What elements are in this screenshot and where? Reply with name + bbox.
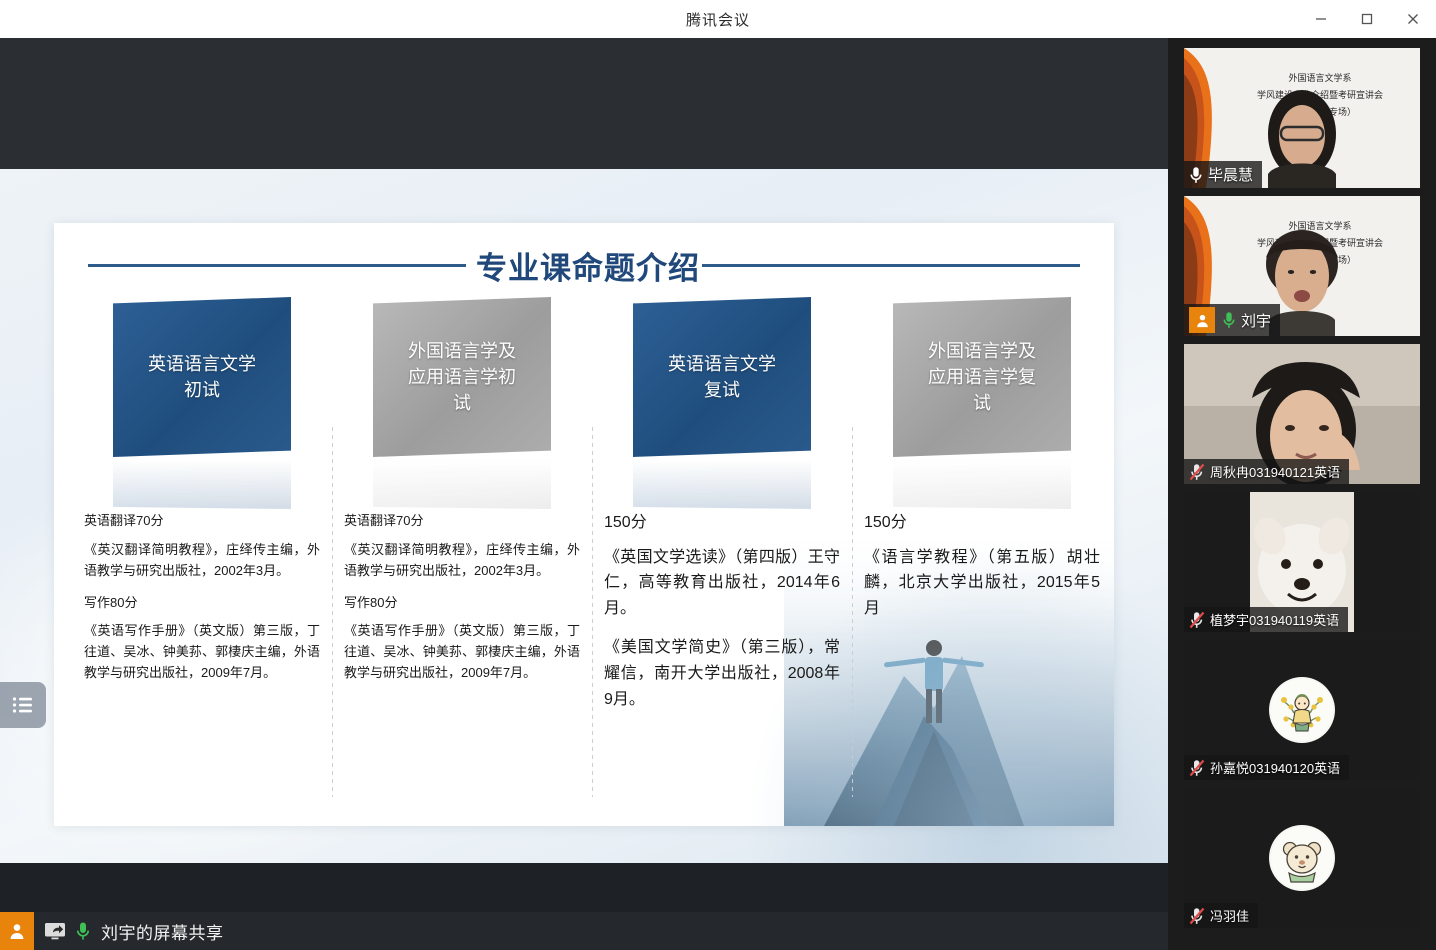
column-body: 150分 《英国文学选读》（第四版）王守仁，高等教育出版社，2014年6月。 《…	[604, 512, 840, 712]
screen-share-icon[interactable]	[44, 921, 66, 941]
illustration-flower-person-icon	[1271, 679, 1333, 741]
participant-name: 植梦宇031940119英语	[1210, 610, 1339, 629]
block-heading: 150分	[864, 512, 1100, 534]
mic-muted-icon	[1189, 463, 1205, 481]
stage-letterbox-top	[0, 38, 1168, 169]
banner-wrap: 英语语言文学 复试	[604, 297, 840, 512]
list-menu-icon	[12, 696, 34, 714]
slide-column: 外国语言学及 应用语言学复 试 150分 《语言学教程》（第五版）胡壮麟，北京大…	[852, 297, 1112, 817]
participant-name: 孙嘉悦031940120英语	[1210, 758, 1340, 777]
block-paragraph: 《英汉翻译简明教程》，庄绎传主编，外语教学与研究出版社，2002年3月。	[84, 539, 320, 581]
avatar	[1269, 677, 1335, 743]
block-heading: 英语翻译70分	[84, 512, 320, 530]
column-body: 150分 《语言学教程》（第五版）胡壮麟，北京大学出版社，2015年5月	[864, 512, 1100, 621]
banner-line: 应用语言学初	[408, 364, 516, 390]
column-body: 英语翻译70分 《英汉翻译简明教程》，庄绎传主编，外语教学与研究出版社，2002…	[344, 512, 580, 683]
slide-column: 外国语言学及 应用语言学初 试 英语翻译70分 《英汉翻译简明教程》，庄绎传主编…	[332, 297, 592, 817]
participant-name-chip: 孙嘉悦031940120英语	[1184, 755, 1349, 780]
participant-name: 刘宇	[1241, 310, 1271, 331]
participant-name: 冯羽佳	[1210, 906, 1249, 925]
avatar	[1269, 825, 1335, 891]
slide-column: 英语语言文学 复试 150分 《英国文学选读》（第四版）王守仁，高等教育出版社，…	[592, 297, 852, 817]
mic-on-icon[interactable]	[75, 921, 91, 941]
participant-name: 周秋冉031940121英语	[1210, 462, 1340, 481]
mic-on-icon	[1222, 311, 1236, 329]
title-rule-right	[702, 264, 1080, 267]
participant-tile[interactable]: 孙嘉悦031940120英语	[1184, 640, 1420, 780]
block-paragraph: 《美国文学简史》（第三版），常耀信，南开大学出版社，2008年9月。	[604, 635, 840, 712]
banner-reflection	[633, 457, 811, 509]
participant-name-chip: 毕晨慧	[1184, 161, 1262, 188]
block-paragraph: 《英语写作手册》（英文版）第三版，丁往道、吴冰、钟美荪、郭棲庆主编，外语教学与研…	[344, 620, 580, 683]
banner-line: 外国语言学及	[408, 338, 516, 364]
banner-wrap: 外国语言学及 应用语言学复 试	[864, 297, 1100, 512]
banner-line: 试	[453, 390, 471, 416]
participant-name-chip: 周秋冉031940121英语	[1184, 459, 1349, 484]
screen-share-status-bar: 刘宇的屏幕共享	[0, 912, 1168, 950]
person-silhouette	[884, 640, 984, 723]
block-paragraph: 《英汉翻译简明教程》，庄绎传主编，外语教学与研究出版社，2002年3月。	[344, 539, 580, 581]
title-rule-left	[88, 264, 466, 267]
participant-tile[interactable]: 外国语言文学系 学风建设专业介绍暨考研宣讲会 （长春校区专场）	[1184, 196, 1420, 336]
banner-reflection	[113, 457, 291, 509]
slide-column: 英语语言文学 初试 英语翻译70分 《英汉翻译简明教程》，庄绎传主编，外语教学与…	[72, 297, 332, 817]
window-title: 腾讯会议	[686, 9, 750, 30]
block-paragraph: 《英国文学选读》（第四版）王守仁，高等教育出版社，2014年6月。	[604, 545, 840, 622]
participant-tile[interactable]: 外国语言文学系 学风建设专业介绍暨考研宣讲会 （长春校区专场）	[1184, 48, 1420, 188]
shared-screen-stage: 专业课命题介绍 英语语言文学 初试	[0, 38, 1168, 912]
window-controls	[1298, 0, 1436, 38]
mic-muted-icon	[1189, 907, 1205, 925]
column-banner: 英语语言文学 初试	[113, 297, 291, 457]
minimize-button[interactable]	[1298, 0, 1344, 38]
slide: 专业课命题介绍 英语语言文学 初试	[54, 223, 1114, 826]
sharebar-icons	[34, 921, 91, 941]
block-paragraph: 《语言学教程》（第五版）胡壮麟，北京大学出版社，2015年5月	[864, 545, 1100, 622]
block-heading: 英语翻译70分	[344, 512, 580, 530]
host-person-icon	[0, 912, 34, 950]
participant-tile[interactable]: 冯羽佳	[1184, 788, 1420, 928]
presentation-canvas: 专业课命题介绍 英语语言文学 初试	[0, 169, 1168, 863]
banner-line: 英语语言文学	[148, 351, 256, 377]
illustration-bear-icon	[1271, 827, 1333, 889]
screen-share-label: 刘宇的屏幕共享	[101, 919, 224, 944]
participant-tile[interactable]: 周秋冉031940121英语	[1184, 344, 1420, 484]
slide-title-row: 专业课命题介绍	[88, 237, 1080, 293]
block-heading: 写作80分	[344, 594, 580, 612]
banner-wrap: 英语语言文学 初试	[84, 297, 320, 512]
mic-on-icon	[1189, 166, 1203, 184]
banner-line: 英语语言文学	[668, 351, 776, 377]
window-titlebar: 腾讯会议	[0, 0, 1436, 38]
banner-line: 应用语言学复	[928, 364, 1036, 390]
maximize-button[interactable]	[1344, 0, 1390, 38]
banner-wrap: 外国语言学及 应用语言学初 试	[344, 297, 580, 512]
list-menu-button[interactable]	[0, 682, 46, 728]
slide-title: 专业课命题介绍	[476, 243, 700, 288]
banner-line: 复试	[704, 377, 740, 403]
banner-line: 试	[973, 390, 991, 416]
column-banner: 外国语言学及 应用语言学初 试	[373, 297, 551, 457]
banner-line: 初试	[184, 377, 220, 403]
tencent-meeting-window: 腾讯会议	[0, 0, 1436, 950]
webcam-face	[1247, 78, 1357, 188]
participant-name: 毕晨慧	[1208, 164, 1253, 185]
participant-rail: 外国语言文学系 学风建设专业介绍暨考研宣讲会 （长春校区专场）	[1168, 38, 1436, 950]
stage-letterbox-bottom	[0, 863, 1168, 912]
close-button[interactable]	[1390, 0, 1436, 38]
banner-reflection	[893, 457, 1071, 509]
participant-tile[interactable]: 植梦宇031940119英语	[1184, 492, 1420, 632]
host-person-icon	[1189, 307, 1215, 333]
mic-muted-icon	[1189, 759, 1205, 777]
participant-name-chip: 刘宇	[1184, 304, 1280, 336]
column-banner: 英语语言文学 复试	[633, 297, 811, 457]
column-banner: 外国语言学及 应用语言学复 试	[893, 297, 1071, 457]
block-paragraph: 《英语写作手册》（英文版）第三版，丁往道、吴冰、钟美荪、郭棲庆主编，外语教学与研…	[84, 620, 320, 683]
banner-line: 外国语言学及	[928, 338, 1036, 364]
block-heading: 写作80分	[84, 594, 320, 612]
mic-muted-icon	[1189, 611, 1205, 629]
slide-columns: 英语语言文学 初试 英语翻译70分 《英汉翻译简明教程》，庄绎传主编，外语教学与…	[72, 297, 1112, 817]
participant-name-chip: 冯羽佳	[1184, 903, 1258, 928]
participant-name-chip: 植梦宇031940119英语	[1184, 607, 1348, 632]
block-heading: 150分	[604, 512, 840, 534]
column-body: 英语翻译70分 《英汉翻译简明教程》，庄绎传主编，外语教学与研究出版社，2002…	[84, 512, 320, 683]
banner-reflection	[373, 457, 551, 509]
